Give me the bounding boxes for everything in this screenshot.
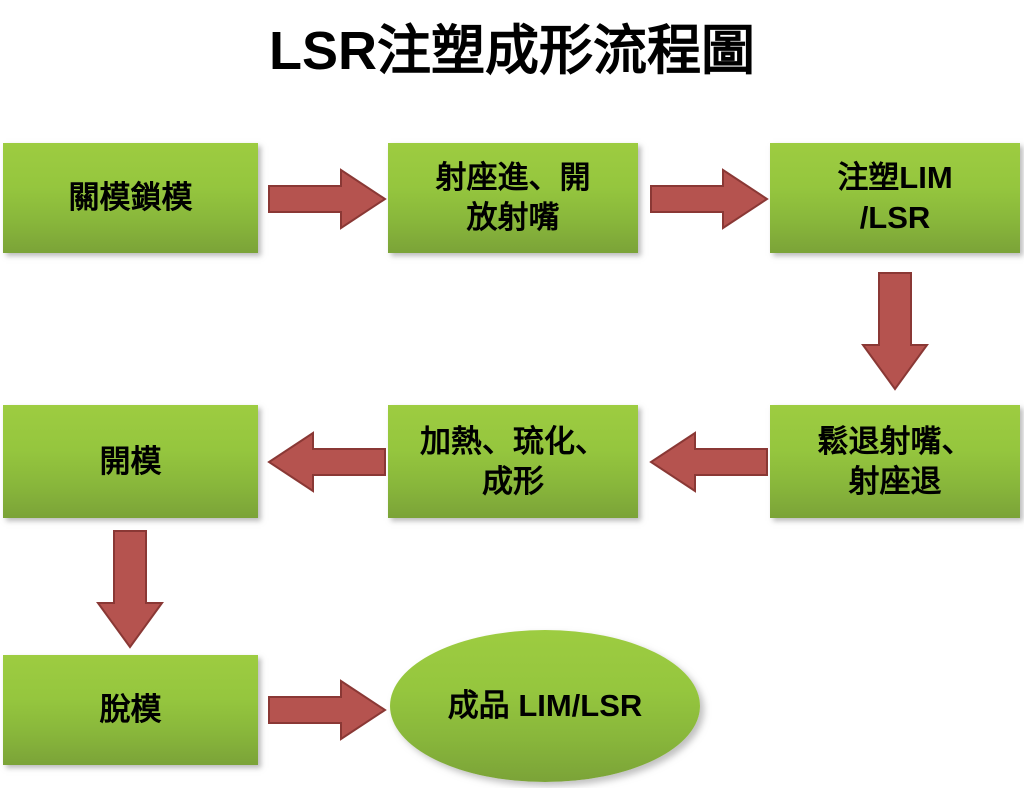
arrow-down-right-column	[862, 272, 928, 390]
page-title: LSR注塑成形流程圖	[0, 22, 1024, 80]
node-label-line: 射座退	[818, 462, 973, 502]
node-heat-cure-form[interactable]: 加熱、琉化、 成形	[388, 405, 638, 518]
node-eject-part[interactable]: 脫模	[3, 655, 258, 765]
node-label-line: 開模	[100, 442, 162, 482]
node-label-line: 成形	[420, 462, 606, 502]
arrow-right-1	[268, 169, 386, 229]
node-label-line: 關模鎖模	[69, 178, 193, 218]
arrow-right-2	[650, 169, 768, 229]
node-label-line: 射座進、開	[436, 158, 591, 198]
node-label-line: 放射嘴	[436, 198, 591, 238]
flowchart-canvas: LSR注塑成形流程圖 關模鎖模 射座進、開 放射嘴 注塑LIM /LSR 開模	[0, 0, 1024, 788]
node-label-line: 脫模	[100, 690, 162, 730]
node-label-line: LIM/LSR	[518, 688, 642, 723]
node-nozzle-advance[interactable]: 射座進、開 放射嘴	[388, 143, 638, 253]
node-label-line: 成品	[448, 688, 510, 723]
arrow-left-2	[268, 432, 386, 492]
node-label-line: 鬆退射嘴、	[818, 422, 973, 462]
arrow-left-1	[650, 432, 768, 492]
node-injection-lim-lsr[interactable]: 注塑LIM /LSR	[770, 143, 1020, 253]
node-label-line: 注塑LIM	[837, 158, 952, 198]
arrow-down-left-column	[97, 530, 163, 648]
node-label-line: /LSR	[837, 198, 952, 238]
arrow-right-3	[268, 680, 386, 740]
node-open-mold[interactable]: 開模	[3, 405, 258, 518]
node-close-mold[interactable]: 關模鎖模	[3, 143, 258, 253]
node-label-line: 加熱、琉化、	[420, 422, 606, 462]
node-nozzle-retract[interactable]: 鬆退射嘴、 射座退	[770, 405, 1020, 518]
node-finished-product[interactable]: 成品 LIM/LSR	[390, 630, 700, 782]
